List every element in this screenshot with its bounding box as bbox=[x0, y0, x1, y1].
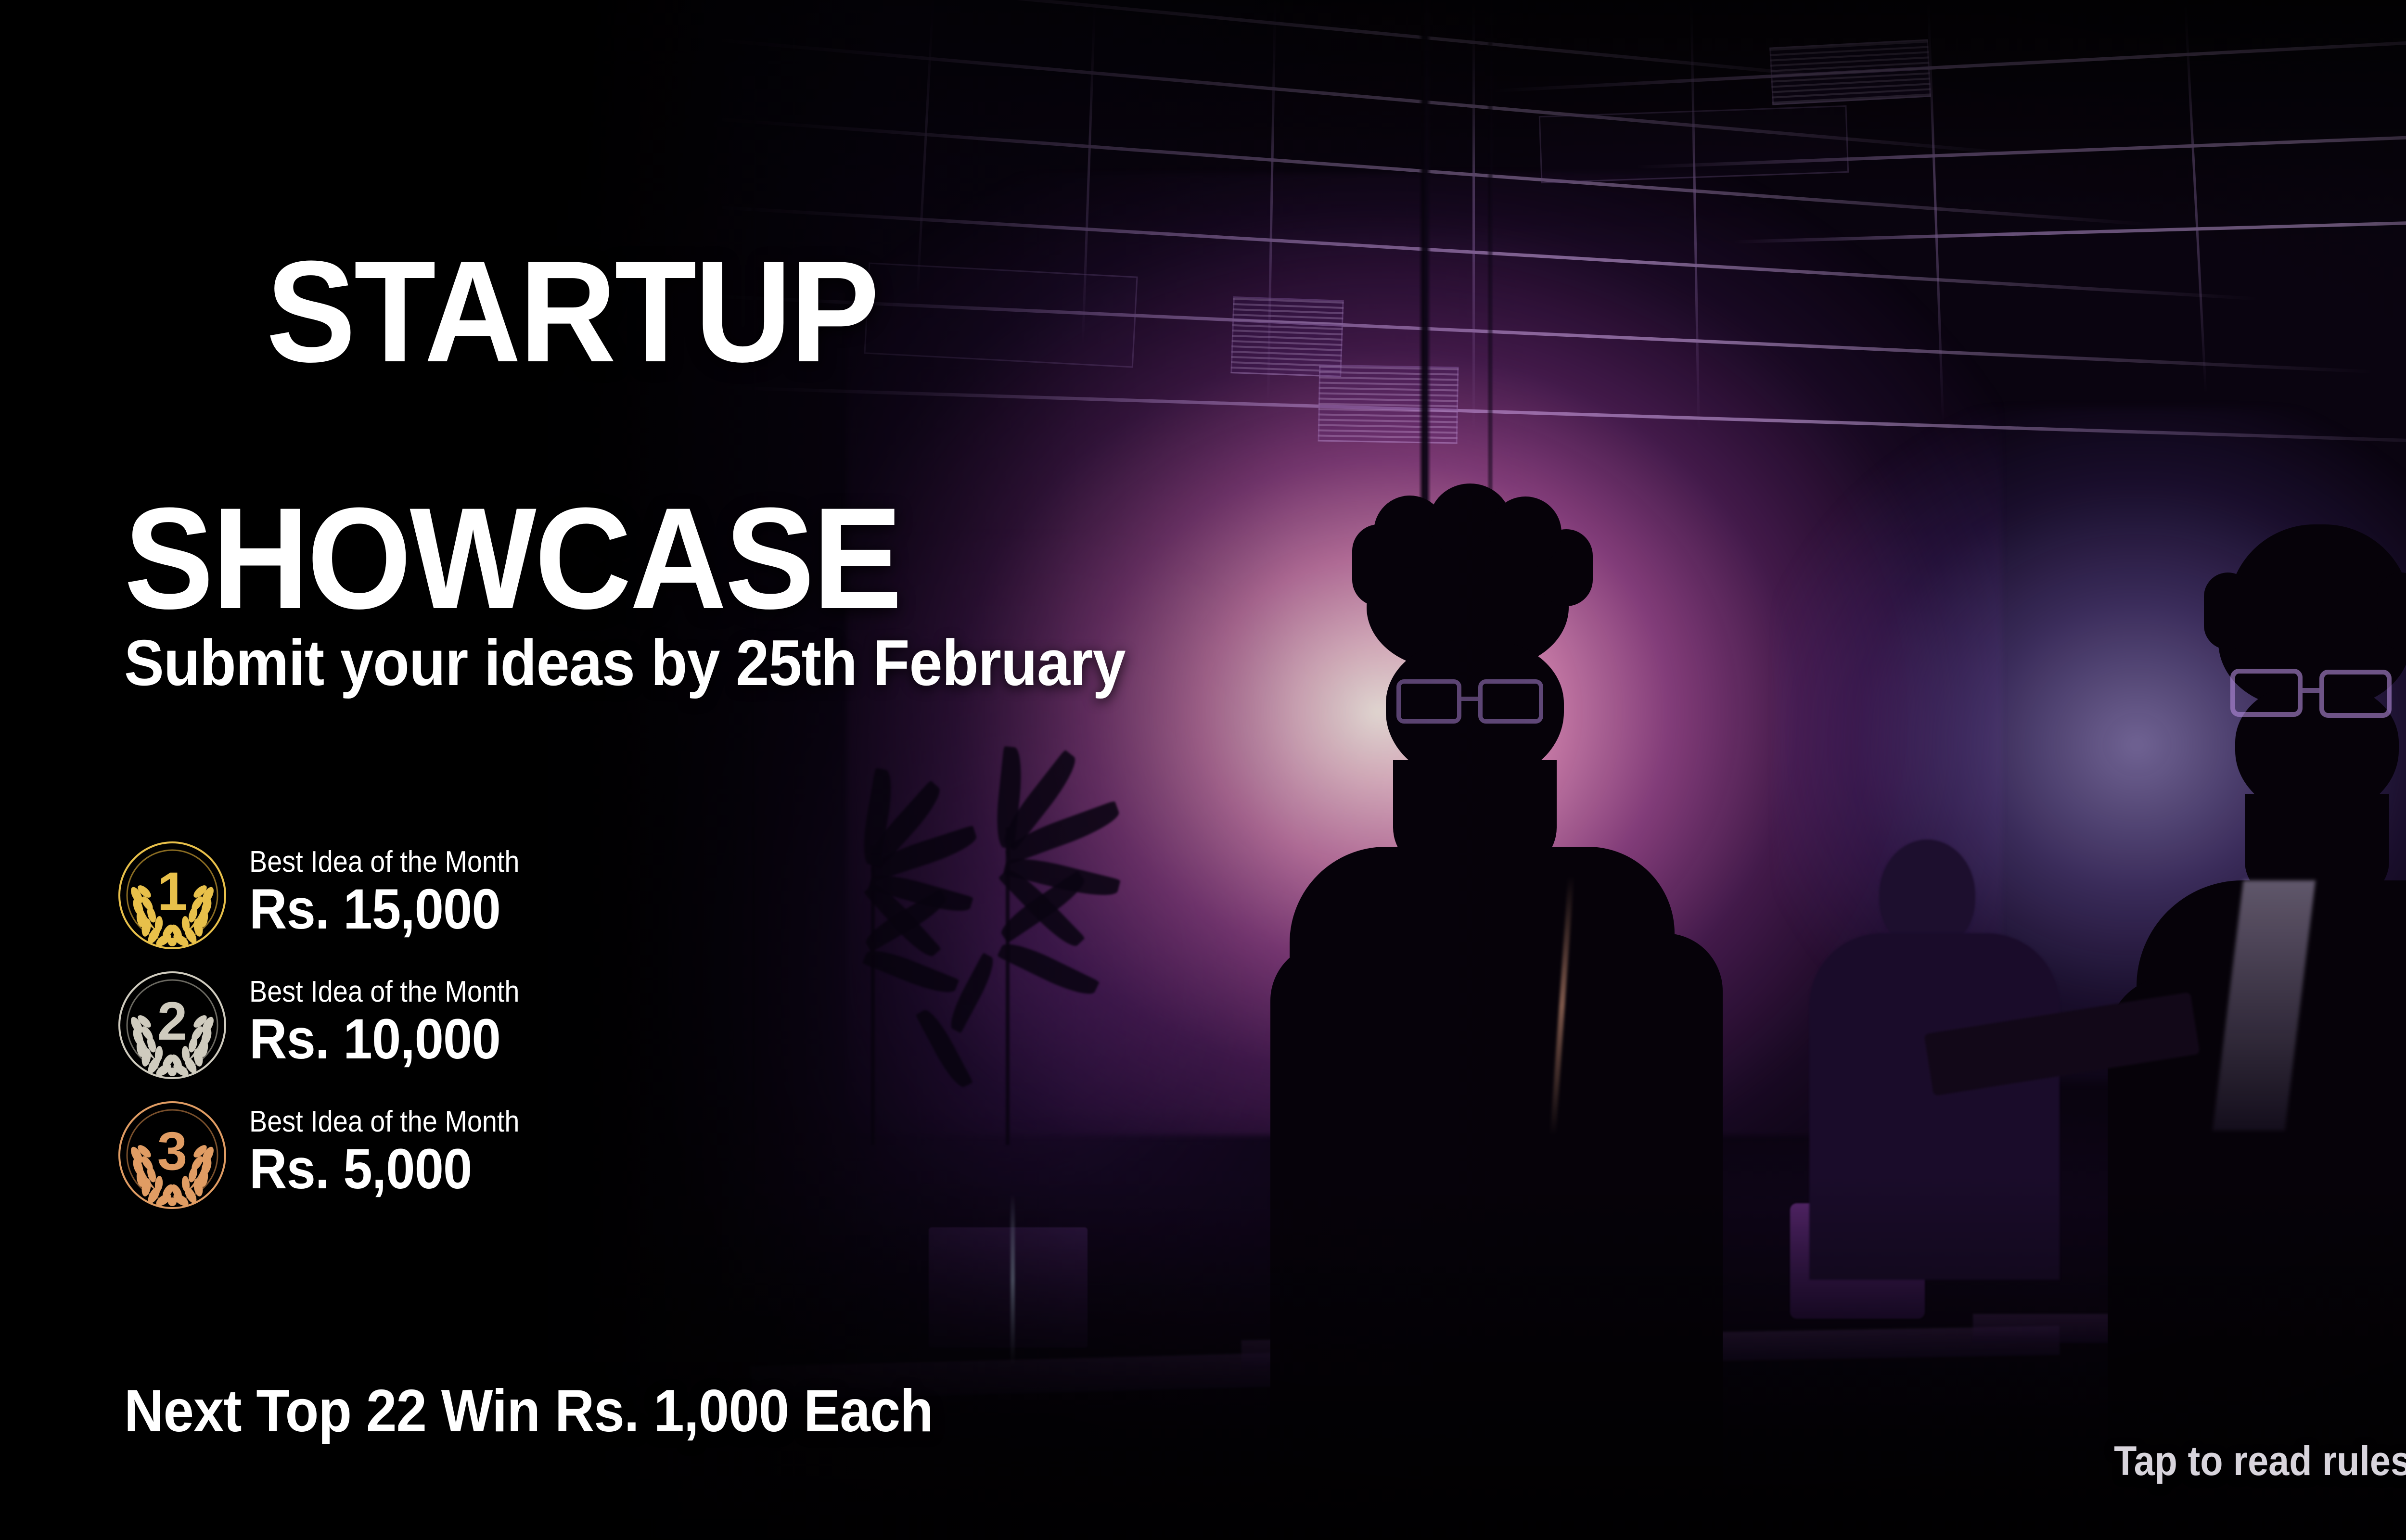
rules-cta[interactable]: Tap to read rules and regulations bbox=[2114, 1438, 2406, 1485]
prize-label: Best Idea of the Month bbox=[249, 845, 519, 879]
page-title: STARTUP SHOWCASE bbox=[124, 126, 900, 866]
prize-row: 3 Best Idea of the Month Rs. 5,000 bbox=[116, 1090, 550, 1220]
prize-text: Best Idea of the Month Rs. 15,000 bbox=[249, 845, 550, 946]
prize-text: Best Idea of the Month Rs. 10,000 bbox=[249, 975, 550, 1076]
prize-text: Best Idea of the Month Rs. 5,000 bbox=[249, 1105, 550, 1206]
prize-list: 1 Best Idea of the Month Rs. 15,000 bbox=[116, 830, 550, 1220]
bronze-laurel-medal-icon: 3 bbox=[116, 1099, 228, 1211]
headline-line-1: STARTUP bbox=[266, 230, 878, 392]
runner-up-prize: Next Top 22 Win Rs. 1,000 Each bbox=[124, 1377, 933, 1445]
poster-content: STARTUP SHOWCASE Submit your ideas by 25… bbox=[0, 0, 2406, 1540]
medal-rank-number: 2 bbox=[157, 991, 187, 1051]
prize-row: 2 Best Idea of the Month Rs. 10,000 bbox=[116, 960, 550, 1090]
submission-deadline: Submit your ideas by 25th February bbox=[124, 625, 1126, 700]
prize-label: Best Idea of the Month bbox=[249, 975, 519, 1009]
gold-laurel-medal-icon: 1 bbox=[116, 840, 228, 951]
prize-amount: Rs. 15,000 bbox=[249, 880, 525, 940]
medal-rank-number: 3 bbox=[157, 1121, 187, 1181]
prize-amount: Rs. 5,000 bbox=[249, 1140, 525, 1199]
headline-line-2: SHOWCASE bbox=[124, 496, 900, 620]
prize-row: 1 Best Idea of the Month Rs. 15,000 bbox=[116, 830, 550, 960]
medal-rank-number: 1 bbox=[157, 861, 187, 921]
prize-amount: Rs. 10,000 bbox=[249, 1010, 525, 1069]
silver-laurel-medal-icon: 2 bbox=[116, 969, 228, 1081]
prize-label: Best Idea of the Month bbox=[249, 1105, 519, 1139]
